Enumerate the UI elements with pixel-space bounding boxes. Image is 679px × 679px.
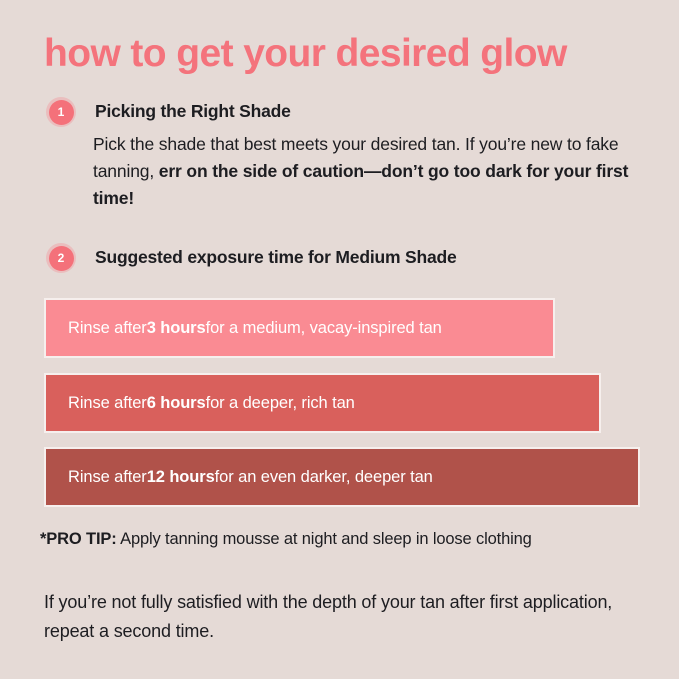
step-1-badge-wrap: 1 [44, 95, 78, 129]
bar-suffix: for a medium, vacay-inspired tan [206, 319, 442, 338]
closing-note: If you’re not fully satisfied with the d… [44, 588, 634, 646]
pro-tip-label: *PRO TIP: [40, 530, 117, 548]
step-2-heading: Suggested exposure time for Medium Shade [95, 241, 457, 270]
page-title: how to get your desired glow [44, 32, 567, 76]
bar-suffix: for an even darker, deeper tan [215, 468, 433, 487]
step-number-badge: 2 [49, 246, 74, 271]
step-number-badge: 1 [49, 100, 74, 125]
glow-guide-page: how to get your desired glow 1 Picking t… [0, 0, 679, 679]
step-1-heading: Picking the Right Shade [95, 95, 291, 124]
bar-suffix: for a deeper, rich tan [206, 394, 355, 413]
step-2-row: 2 Suggested exposure time for Medium Sha… [44, 241, 457, 275]
step-2-badge-wrap: 2 [44, 241, 78, 275]
pro-tip-text: Apply tanning mousse at night and sleep … [117, 530, 532, 548]
step-1-body: Pick the shade that best meets your desi… [93, 131, 639, 212]
step-1-body-bold: err on the side of caution—don’t go too … [93, 161, 628, 208]
bar-duration: 12 hours [147, 468, 215, 487]
step-1-row: 1 Picking the Right Shade [44, 95, 291, 129]
bar-prefix: Rinse after [68, 319, 147, 338]
bar-duration: 3 hours [147, 319, 206, 338]
bar-prefix: Rinse after [68, 394, 147, 413]
bar-duration: 6 hours [147, 394, 206, 413]
exposure-bar-12-hours: Rinse after 12 hours for an even darker,… [44, 447, 640, 507]
exposure-bar-3-hours: Rinse after 3 hours for a medium, vacay-… [44, 298, 555, 358]
pro-tip: *PRO TIP: Apply tanning mousse at night … [40, 527, 532, 552]
exposure-bar-6-hours: Rinse after 6 hours for a deeper, rich t… [44, 373, 601, 433]
bar-prefix: Rinse after [68, 468, 147, 487]
